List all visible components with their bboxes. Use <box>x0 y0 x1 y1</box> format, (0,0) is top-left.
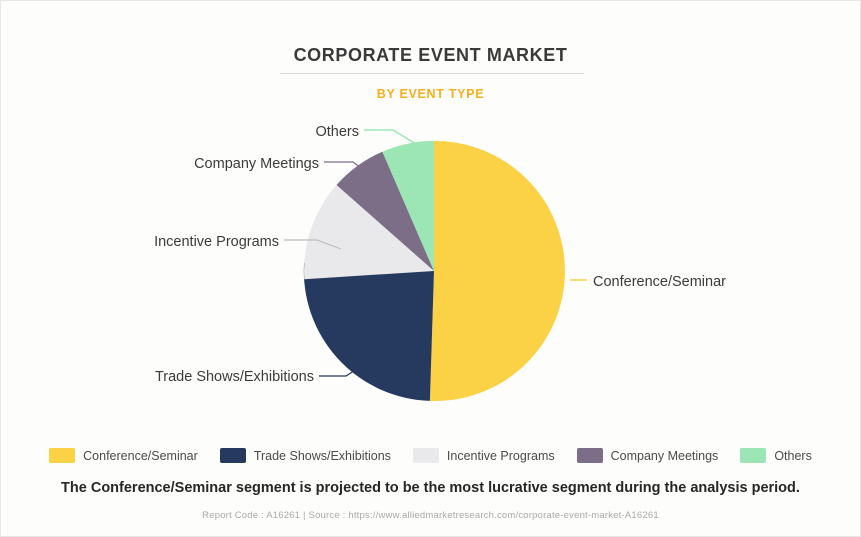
legend-item-incentive-programs[interactable]: Incentive Programs <box>413 448 555 463</box>
pie-slice-company-meetings[interactable] <box>337 152 435 271</box>
leader-line-company-meetings <box>324 162 373 177</box>
legend-item-others[interactable]: Others <box>740 448 812 463</box>
pie-label-conference-seminar: Conference/Seminar <box>593 274 726 290</box>
pie-slice-others[interactable] <box>382 141 434 271</box>
legend-swatch-icon <box>740 448 766 463</box>
source-text: Report Code : A16261 | Source : https://… <box>1 510 860 521</box>
chart-subtitle: BY EVENT TYPE <box>1 87 860 101</box>
legend-label: Trade Shows/Exhibitions <box>254 449 391 463</box>
pie-slice-incentive-programs[interactable] <box>304 185 434 279</box>
legend-label: Others <box>774 449 812 463</box>
legend-label: Incentive Programs <box>447 449 555 463</box>
pie-slice-conference-seminar[interactable] <box>430 141 565 401</box>
legend-item-conference-seminar[interactable]: Conference/Seminar <box>49 448 198 463</box>
legend-swatch-icon <box>413 448 439 463</box>
chart-page: CORPORATE EVENT MARKET BY EVENT TYPE Con… <box>0 0 861 537</box>
leader-line-trade-shows <box>319 353 382 376</box>
pie-label-company-meetings: Company Meetings <box>194 156 319 172</box>
pie-label-incentive-programs: Incentive Programs <box>154 234 279 250</box>
legend-swatch-icon <box>220 448 246 463</box>
legend-label: Company Meetings <box>611 449 719 463</box>
legend-swatch-icon <box>49 448 75 463</box>
page-title: CORPORATE EVENT MARKET <box>1 45 860 66</box>
title-divider <box>280 73 584 74</box>
pie-label-others: Others <box>315 124 359 140</box>
chart-legend: Conference/Seminar Trade Shows/Exhibitio… <box>1 448 860 463</box>
legend-label: Conference/Seminar <box>83 449 198 463</box>
legend-swatch-icon <box>577 448 603 463</box>
pie-slice-trade-shows[interactable] <box>304 263 434 401</box>
legend-item-company-meetings[interactable]: Company Meetings <box>577 448 719 463</box>
leader-line-incentive-programs <box>284 240 341 249</box>
pie-label-trade-shows: Trade Shows/Exhibitions <box>155 369 314 385</box>
insight-text: The Conference/Seminar segment is projec… <box>1 480 860 496</box>
leader-line-others <box>364 130 421 147</box>
legend-item-trade-shows[interactable]: Trade Shows/Exhibitions <box>220 448 391 463</box>
